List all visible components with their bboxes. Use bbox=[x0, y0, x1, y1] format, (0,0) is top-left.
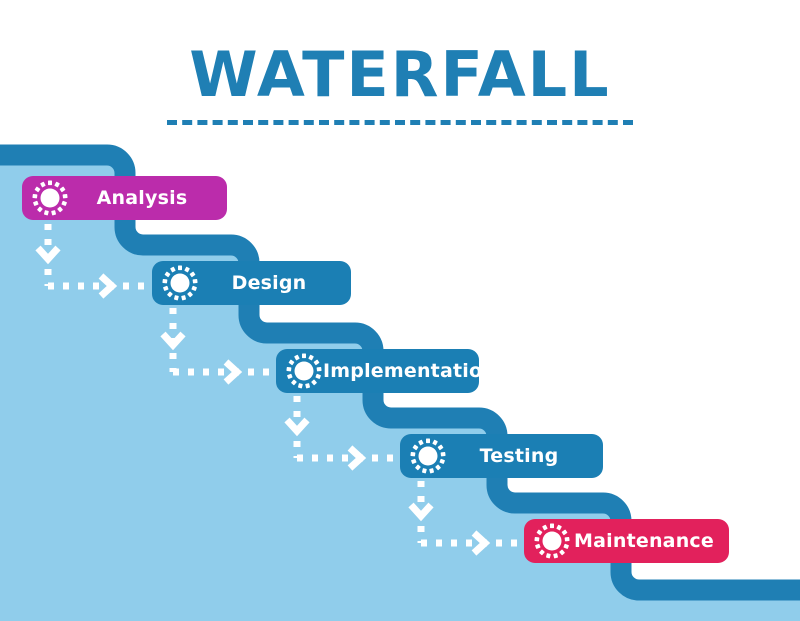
stage-bar-implementation[interactable]: Implementation bbox=[276, 349, 479, 393]
stage-label-design: Design bbox=[199, 272, 351, 294]
stage-bar-analysis[interactable]: Analysis bbox=[22, 176, 227, 220]
sun-circle-icon bbox=[285, 352, 323, 390]
stage-label-maintenance: Maintenance bbox=[571, 530, 729, 552]
sun-circle-icon bbox=[161, 264, 199, 302]
stage-bar-design[interactable]: Design bbox=[152, 261, 351, 305]
sun-circle-icon bbox=[409, 437, 447, 475]
stage-bar-maintenance[interactable]: Maintenance bbox=[524, 519, 729, 563]
sun-circle-icon bbox=[31, 179, 69, 217]
waterfall-diagram-canvas: WATERFALL bbox=[0, 0, 800, 621]
stage-label-testing: Testing bbox=[447, 445, 603, 467]
stage-label-implementation: Implementation bbox=[323, 360, 508, 382]
sun-circle-icon bbox=[533, 522, 571, 560]
stage-bar-testing[interactable]: Testing bbox=[400, 434, 603, 478]
stage-label-analysis: Analysis bbox=[69, 187, 227, 209]
